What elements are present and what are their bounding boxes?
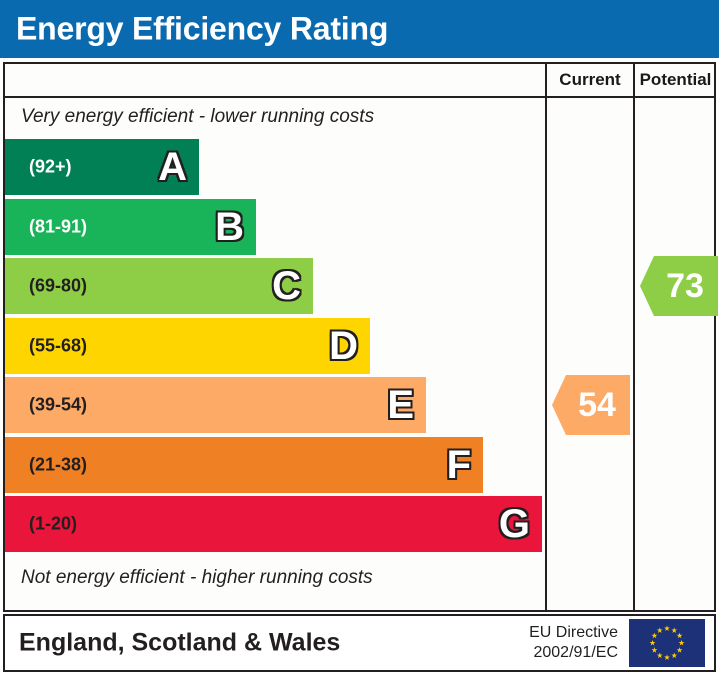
band-letter-e: E	[387, 385, 414, 425]
caption-not-efficient: Not energy efficient - higher running co…	[5, 558, 543, 597]
band-letter-c: C	[272, 266, 301, 306]
band-letter-d: D	[329, 326, 358, 366]
eu-flag-icon	[629, 619, 705, 667]
current-rating-arrow: 54	[552, 375, 630, 435]
chart-title-bar: Energy Efficiency Rating	[0, 0, 719, 58]
band-range-b: (81-91)	[29, 216, 87, 237]
footer-region-label: England, Scotland & Wales	[19, 629, 340, 658]
band-range-d: (55-68)	[29, 335, 87, 356]
band-bar-d: (55-68)D	[5, 318, 370, 374]
footer-eu-directive: EU Directive 2002/91/EC	[529, 623, 618, 663]
band-range-c: (69-80)	[29, 276, 87, 297]
column-header-potential: Potential	[635, 64, 716, 98]
band-letter-b: B	[215, 207, 244, 247]
column-header-current: Current	[547, 64, 633, 98]
table-header-row: Current Potential	[5, 64, 714, 98]
band-bar-c: (69-80)C	[5, 258, 313, 314]
caption-very-efficient: Very energy efficient - lower running co…	[5, 98, 543, 136]
band-letter-g: G	[499, 504, 530, 544]
energy-efficiency-rating-chart: Energy Efficiency Rating Current Potenti…	[0, 0, 719, 675]
current-rating-value: 54	[566, 388, 616, 422]
potential-rating-value: 73	[654, 269, 704, 303]
band-bar-b: (81-91)B	[5, 199, 256, 255]
band-range-a: (92+)	[29, 157, 72, 178]
column-divider-potential	[633, 64, 635, 610]
band-bar-e: (39-54)E	[5, 377, 426, 433]
band-letter-f: F	[447, 445, 471, 485]
band-range-g: (1-20)	[29, 514, 77, 535]
band-range-e: (39-54)	[29, 395, 87, 416]
eu-directive-line1: EU Directive	[529, 623, 618, 643]
eu-directive-line2: 2002/91/EC	[529, 643, 618, 663]
band-bar-a: (92+)A	[5, 139, 199, 195]
band-bars-group: (92+)A(81-91)B(69-80)C(55-68)D(39-54)E(2…	[5, 139, 543, 558]
band-letter-a: A	[158, 147, 187, 187]
band-bar-f: (21-38)F	[5, 437, 483, 493]
page-title: Energy Efficiency Rating	[16, 11, 388, 48]
band-range-f: (21-38)	[29, 454, 87, 475]
potential-rating-arrow: 73	[640, 256, 718, 316]
column-divider-current	[545, 64, 547, 610]
rating-table: Current Potential Very energy efficient …	[3, 62, 716, 612]
chart-footer: England, Scotland & Wales EU Directive 2…	[3, 614, 716, 672]
band-bar-g: (1-20)G	[5, 496, 542, 552]
